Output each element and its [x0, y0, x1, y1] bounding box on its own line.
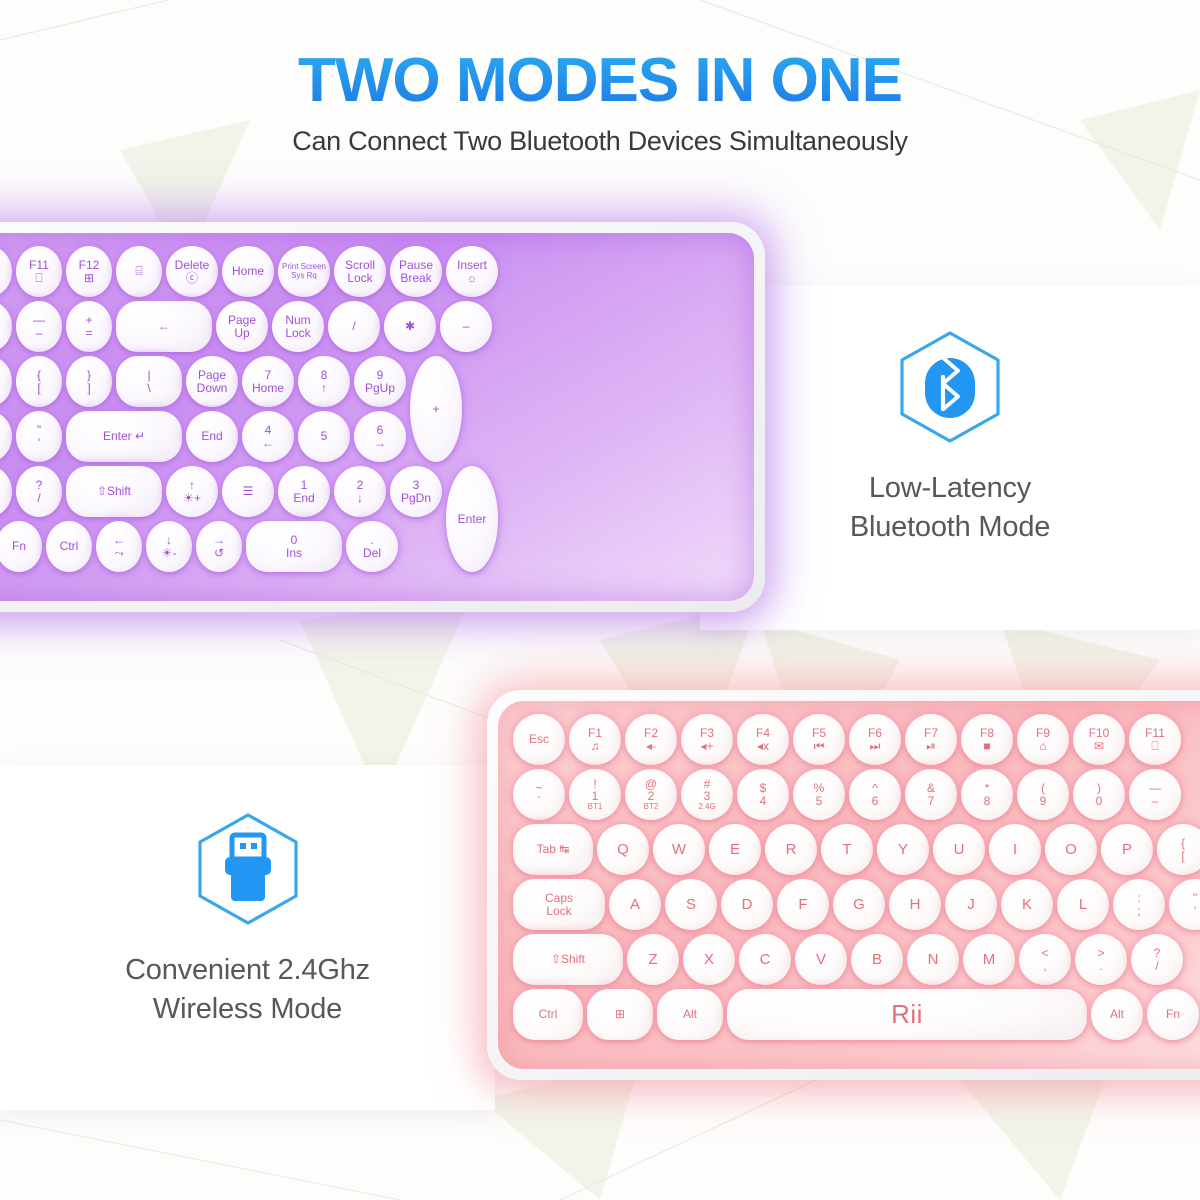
key-r[interactable]: R	[765, 824, 817, 875]
key-delete[interactable]: Deleteⓒ	[166, 246, 218, 297]
key--[interactable]: ^6	[849, 769, 901, 820]
keycap: )0	[1073, 769, 1125, 820]
key-8[interactable]: 8↑	[298, 356, 350, 407]
keycap: C	[739, 934, 791, 985]
key--[interactable]: (9	[1017, 769, 1069, 820]
key-legend-primary: ☰	[243, 485, 254, 497]
key-legend-secondary: 0	[1096, 795, 1103, 807]
key-legend-primary: Ctrl	[539, 1008, 558, 1020]
key--[interactable]: $4	[737, 769, 789, 820]
key-legend-primary: 4	[265, 424, 272, 436]
key-legend-primary: 5	[321, 430, 328, 442]
key-f2[interactable]: F2◂-	[625, 714, 677, 765]
key--[interactable]: &7	[905, 769, 957, 820]
key-legend-secondary: ⊞	[84, 272, 94, 284]
key-legend-primary: 0	[291, 534, 298, 546]
key-legend-secondary: \	[147, 382, 150, 394]
key-legend-primary: 7	[265, 369, 272, 381]
keycap: 4←	[242, 411, 294, 462]
key-legend-primary: H	[910, 897, 921, 912]
key-f8[interactable]: F8■	[961, 714, 1013, 765]
key-home[interactable]: Home	[222, 246, 274, 297]
keycap: ?/	[1131, 934, 1183, 985]
key-ctrl[interactable]: Ctrl	[46, 521, 92, 572]
key-legend-secondary: .	[1099, 960, 1102, 972]
key-legend-primary: F12	[79, 259, 100, 271]
key-legend-primary: F11	[29, 259, 49, 271]
key-legend-primary: J	[967, 897, 975, 912]
key-legend-primary: 1	[301, 479, 308, 491]
keycap: PageUp	[216, 301, 268, 352]
key-legend-primary: ←	[158, 320, 170, 332]
key-legend-mode: BT2	[644, 803, 659, 811]
keycap: F9⌂	[1017, 714, 1069, 765]
key-legend-primary: T	[842, 842, 851, 857]
key-legend-secondary: PgDn	[401, 492, 431, 504]
key--[interactable]: @2BT2	[625, 769, 677, 820]
key-legend-primary: D	[742, 897, 753, 912]
key-c[interactable]: C	[739, 934, 791, 985]
key-legend-primary: B	[872, 952, 882, 967]
key-f11[interactable]: F11⎕	[1129, 714, 1181, 765]
key--[interactable]: ←⤳	[96, 521, 142, 572]
key-legend-secondary: ⏭	[870, 740, 881, 752]
key--[interactable]: }]	[66, 356, 112, 407]
keycap: ScrollLock	[334, 246, 386, 297]
key-legend-secondary: ■	[983, 740, 990, 752]
key-legend-secondary: ;	[1137, 905, 1140, 917]
key-a[interactable]: A	[609, 879, 661, 930]
keycap: ✱	[384, 301, 436, 352]
key-legend-primary: S	[686, 897, 696, 912]
keycap: |\	[116, 356, 182, 407]
key-f9[interactable]: F9⌂	[1017, 714, 1069, 765]
keycap: &7	[905, 769, 957, 820]
keycap: Ctrl	[513, 989, 583, 1040]
keycap: "'	[1169, 879, 1200, 930]
key--[interactable]: ☰	[222, 466, 274, 517]
keycap: #32.4G	[681, 769, 733, 820]
key-y[interactable]: Y	[877, 824, 929, 875]
keycap: –	[440, 301, 492, 352]
key-legend-secondary: 7	[928, 795, 935, 807]
key--[interactable]: :;	[1113, 879, 1165, 930]
key--[interactable]: "'	[16, 411, 62, 462]
key-legend-primary: (	[1041, 782, 1045, 794]
key-legend-primary: N	[928, 952, 939, 967]
key-9[interactable]: 9PgUp	[354, 356, 406, 407]
key-esc[interactable]: Esc	[513, 714, 565, 765]
keycap: @2BT2	[625, 769, 677, 820]
keycap: O	[1045, 824, 1097, 875]
keycap: }]	[66, 356, 112, 407]
key--[interactable]: –	[440, 301, 492, 352]
key-legend-secondary: Down	[197, 382, 228, 394]
key-legend-secondary: ◂-	[646, 740, 656, 752]
key-legend-secondary: Lock	[285, 327, 310, 339]
key-legend-primary: —	[1149, 782, 1161, 794]
key-legend-secondary: [	[37, 382, 40, 394]
key-legend-secondary: [	[1181, 850, 1184, 862]
key-legend-secondary: PgUp	[365, 382, 395, 394]
key-legend-primary: R	[786, 842, 797, 857]
key-legend-primary: ⌸	[135, 265, 142, 277]
brand-label: Rii	[891, 1001, 923, 1028]
key-legend-primary: Fn	[1166, 1008, 1180, 1020]
key-fn[interactable]: Fn	[0, 521, 42, 572]
key-legend-primary: Delete	[175, 259, 210, 271]
key-legend-secondary: ,	[1043, 960, 1046, 972]
keycap: (9	[1017, 769, 1069, 820]
key-legend-secondary: Ins	[286, 547, 302, 559]
key-legend-primary: F6	[868, 727, 882, 739]
key-legend-primary: Q	[617, 842, 629, 857]
key-legend-secondary: Lock	[546, 905, 571, 917]
key--[interactable]: ~`	[513, 769, 565, 820]
key--[interactable]: "'	[1169, 879, 1200, 930]
key-num[interactable]: NumLock	[272, 301, 324, 352]
keycap: Tab ↹	[513, 824, 593, 875]
key-legend-primary: |	[147, 369, 150, 381]
key-t[interactable]: T	[821, 824, 873, 875]
key-tab-[interactable]: Tab ↹	[513, 824, 593, 875]
keycap: 6→	[354, 411, 406, 462]
key-legend-secondary: ]	[87, 382, 90, 394]
key-enter-[interactable]: Enter ↵	[66, 411, 182, 462]
key-legend-secondary: '	[1194, 905, 1196, 917]
header: TWO MODES IN ONE Can Connect Two Bluetoo…	[0, 0, 1200, 157]
key-legend-secondary: `	[537, 795, 541, 807]
key-alt[interactable]: Alt	[657, 989, 723, 1040]
keycap: F	[777, 879, 829, 930]
key-l[interactable]: L	[1057, 879, 1109, 930]
key--shift[interactable]: ⇧Shift	[66, 466, 162, 517]
key-legend-secondary: ☀-	[162, 547, 177, 559]
keycap: K	[1001, 879, 1053, 930]
key-legend-primary: Alt	[683, 1008, 697, 1020]
keycap: →↺	[196, 521, 242, 572]
keycap: Ctrl	[46, 521, 92, 572]
key--[interactable]: *8	[961, 769, 1013, 820]
key-2[interactable]: 2↓	[334, 466, 386, 517]
key-f3[interactable]: F3◂+	[681, 714, 733, 765]
key--[interactable]: <,	[1019, 934, 1071, 985]
key-legend-primary: /	[352, 320, 355, 332]
key-legend-primary: "	[1193, 892, 1197, 904]
key-f5[interactable]: F5⏮	[793, 714, 845, 765]
key-fn[interactable]: Fn	[1147, 989, 1199, 1040]
key--[interactable]: .Del	[346, 521, 398, 572]
keycap: V	[795, 934, 847, 985]
key--[interactable]: ↑☀+	[166, 466, 218, 517]
key-legend-primary: 6	[377, 424, 384, 436]
key-p[interactable]: P	[1101, 824, 1153, 875]
key-legend-secondary: ◂x	[757, 740, 769, 752]
key-legend-primary: +	[432, 403, 439, 415]
keycap: Print ScreenSys Rq	[278, 246, 330, 297]
key-legend-primary: {	[37, 369, 41, 381]
key-legend-secondary: Home	[252, 382, 284, 394]
key-legend-primary: Enter ↵	[103, 430, 145, 442]
key-page[interactable]: PageUp	[216, 301, 268, 352]
keycap: Esc	[513, 714, 565, 765]
key--[interactable]: ?/	[16, 466, 62, 517]
key-enter[interactable]: Enter	[446, 466, 498, 572]
keycap: 5	[298, 411, 350, 462]
key-legend-primary: V	[816, 952, 826, 967]
keycap: 8↑	[298, 356, 350, 407]
key-q[interactable]: Q	[597, 824, 649, 875]
keycap: U	[933, 824, 985, 875]
key-legend-secondary: ◂+	[700, 740, 713, 752]
page-subtitle: Can Connect Two Bluetooth Devices Simult…	[0, 112, 1200, 157]
keycap: 3PgDn	[390, 466, 442, 517]
key-j[interactable]: J	[945, 879, 997, 930]
keycap: W	[653, 824, 705, 875]
key--[interactable]: ←	[116, 301, 212, 352]
key--[interactable]: ✱	[384, 301, 436, 352]
keycap: F8■	[961, 714, 1013, 765]
key-f12[interactable]: F12⊞	[66, 246, 112, 297]
keycap: H	[889, 879, 941, 930]
key-f11[interactable]: F11⎕	[16, 246, 62, 297]
key-legend-primary: E	[730, 842, 740, 857]
key-pause[interactable]: PauseBreak	[390, 246, 442, 297]
key--[interactable]: #32.4G	[681, 769, 733, 820]
key--[interactable]: {[	[1157, 824, 1200, 875]
key-legend-secondary: ↺	[214, 547, 224, 559]
key-i[interactable]: I	[989, 824, 1041, 875]
key--[interactable]: ⊞	[587, 989, 653, 1040]
key-g[interactable]: G	[833, 879, 885, 930]
key--[interactable]: —–	[16, 301, 62, 352]
keycap: ←	[116, 301, 212, 352]
keycap: ↑☀+	[166, 466, 218, 517]
key-legend-secondary: ⤳	[114, 547, 124, 559]
key-b[interactable]: B	[851, 934, 903, 985]
key--[interactable]: >.	[1075, 934, 1127, 985]
key-legend-secondary: 6	[872, 795, 879, 807]
key-f7[interactable]: F7⏯	[905, 714, 957, 765]
key-caps[interactable]: CapsLock	[513, 879, 605, 930]
keycap: +=	[66, 301, 112, 352]
key-legend-primary: <	[1041, 947, 1048, 959]
key-u[interactable]: U	[933, 824, 985, 875]
key-7[interactable]: 7Home	[242, 356, 294, 407]
key--[interactable]: :;	[0, 411, 12, 462]
key--[interactable]: ?/	[1131, 934, 1183, 985]
key--[interactable]: →↺	[196, 521, 242, 572]
keycap: X	[683, 934, 735, 985]
keycap: Y	[877, 824, 929, 875]
keycap: Enter	[446, 466, 498, 572]
key-m[interactable]: M	[963, 934, 1015, 985]
keycap: P	[0, 356, 12, 407]
keycap: D	[721, 879, 773, 930]
key-legend-primary: F3	[700, 727, 714, 739]
key--[interactable]: +	[410, 356, 462, 462]
pink-keyboard[interactable]: EscF1♫F2◂-F3◂+F4◂xF5⏮F6⏭F7⏯F8■F9⌂F10✉F11…	[487, 690, 1200, 1080]
key-legend-secondary: 9	[1040, 795, 1047, 807]
keycap: ⊞	[587, 989, 653, 1040]
keycap: /	[328, 301, 380, 352]
key-legend-secondary: 8	[984, 795, 991, 807]
keycap: B	[851, 934, 903, 985]
key--[interactable]: )0	[1073, 769, 1125, 820]
feature-panel-wireless: Convenient 2.4Ghz Wireless Mode	[0, 765, 495, 1110]
keycap: +	[410, 356, 462, 462]
key-x[interactable]: X	[683, 934, 735, 985]
key-legend-secondary: ✉	[1094, 740, 1104, 752]
key-6[interactable]: 6→	[354, 411, 406, 462]
key-legend-primary: >	[1097, 947, 1104, 959]
key-legend-primary: ?	[36, 479, 43, 491]
usb-dongle-hexagon-icon	[0, 807, 495, 935]
key--[interactable]: !1BT1	[569, 769, 621, 820]
key-e[interactable]: E	[709, 824, 761, 875]
key-s[interactable]: S	[665, 879, 717, 930]
key-legend-primary: F9	[1036, 727, 1050, 739]
keycap: P	[1101, 824, 1153, 875]
key--[interactable]: %5	[793, 769, 845, 820]
key-o[interactable]: O	[1045, 824, 1097, 875]
key-f6[interactable]: F6⏭	[849, 714, 901, 765]
keycap: CapsLock	[513, 879, 605, 930]
keycap: I	[989, 824, 1041, 875]
keycap: )0	[0, 301, 12, 352]
key-v[interactable]: V	[795, 934, 847, 985]
key-f10[interactable]: F10✉	[0, 246, 12, 297]
key-legend-primary: ⇧Shift	[97, 485, 131, 497]
keycap: {[	[1157, 824, 1200, 875]
keycap: Deleteⓒ	[166, 246, 218, 297]
keycap: Q	[597, 824, 649, 875]
key-legend-primary: Ctrl	[60, 540, 79, 552]
feature-label: Convenient 2.4Ghz Wireless Mode	[0, 951, 495, 1029]
key-legend-primary: Scroll	[345, 259, 375, 271]
key-f4[interactable]: F4◂x	[737, 714, 789, 765]
key-5[interactable]: 5	[298, 411, 350, 462]
key-legend-secondary: /	[37, 492, 40, 504]
key-1[interactable]: 1End	[278, 466, 330, 517]
key-legend-secondary: ☀+	[183, 492, 201, 504]
keycap: A	[609, 879, 661, 930]
keycap: >.	[0, 466, 12, 517]
key-end[interactable]: End	[186, 411, 238, 462]
keycap: 2↓	[334, 466, 386, 517]
key-legend-secondary: ⓒ	[186, 272, 198, 284]
keycap: S	[665, 879, 717, 930]
key-alt[interactable]: Alt	[1091, 989, 1143, 1040]
key-legend-secondary: Lock	[347, 272, 372, 284]
purple-keyboard[interactable]: F7▶‖F8■F9⌂F10✉F11⎕F12⊞⌸DeleteⓒHomePrint …	[0, 222, 765, 612]
key-legend-primary: Alt	[1110, 1008, 1124, 1020]
key-k[interactable]: K	[1001, 879, 1053, 930]
key-legend-secondary: Up	[234, 327, 249, 339]
keycap: M	[963, 934, 1015, 985]
key-scroll[interactable]: ScrollLock	[334, 246, 386, 297]
bluetooth-hexagon-icon	[700, 325, 1200, 453]
key-w[interactable]: W	[653, 824, 705, 875]
keycap: Z	[627, 934, 679, 985]
key--[interactable]: /	[328, 301, 380, 352]
key-print-screen[interactable]: Print ScreenSys Rq	[278, 246, 330, 297]
key-legend-secondary: End	[293, 492, 314, 504]
key--[interactable]: +=	[66, 301, 112, 352]
key-legend-primary: ~	[535, 782, 542, 794]
keycap: F1♫	[569, 714, 621, 765]
key-0[interactable]: 0Ins	[246, 521, 342, 572]
key-legend-secondary: 4	[760, 795, 767, 807]
key-legend-secondary: ⏮	[814, 740, 825, 752]
feature-line-1: Low-Latency	[700, 469, 1200, 508]
key-n[interactable]: N	[907, 934, 959, 985]
key-ctrl[interactable]: Ctrl	[513, 989, 583, 1040]
keycap: 7Home	[242, 356, 294, 407]
key-f[interactable]: F	[777, 879, 829, 930]
keycap: !1BT1	[569, 769, 621, 820]
key-legend-primary: ^	[872, 782, 878, 794]
keycap: F2◂-	[625, 714, 677, 765]
key-f1[interactable]: F1♫	[569, 714, 621, 765]
key-legend-primary: Z	[648, 952, 657, 967]
keycap: F3◂+	[681, 714, 733, 765]
keycap: ^6	[849, 769, 901, 820]
key-legend-primary: P	[1122, 842, 1132, 857]
key-f10[interactable]: F10✉	[1073, 714, 1125, 765]
key-legend-primary: *	[985, 782, 990, 794]
key-3[interactable]: 3PgDn	[390, 466, 442, 517]
key-rii[interactable]: Rii	[727, 989, 1087, 1040]
key-legend-primary: 3	[413, 479, 420, 491]
key--[interactable]: —–	[1129, 769, 1181, 820]
key-legend-primary: ⇧Shift	[551, 953, 585, 965]
key-legend-primary: Y	[898, 842, 908, 857]
keycap: Alt	[657, 989, 723, 1040]
key-4[interactable]: 4←	[242, 411, 294, 462]
key-h[interactable]: H	[889, 879, 941, 930]
keycap: ←⤳	[96, 521, 142, 572]
key-z[interactable]: Z	[627, 934, 679, 985]
key-legend-secondary: ♫	[591, 740, 600, 752]
key-legend-secondary: Break	[400, 272, 431, 284]
key-legend-primary: F8	[980, 727, 994, 739]
key--shift[interactable]: ⇧Shift	[513, 934, 623, 985]
key-d[interactable]: D	[721, 879, 773, 930]
keycap: L	[1057, 879, 1109, 930]
key-page[interactable]: PageDown	[186, 356, 238, 407]
key-legend-primary: F10	[1089, 727, 1110, 739]
key-legend-primary: $	[760, 782, 767, 794]
keycap: PageDown	[186, 356, 238, 407]
key-legend-secondary: '	[38, 437, 40, 449]
key-legend-primary: Esc	[529, 733, 549, 745]
keycap: F11⎕	[1129, 714, 1181, 765]
key-legend-primary: A	[630, 897, 640, 912]
key--[interactable]: )0	[0, 301, 12, 352]
key-p[interactable]: P	[0, 356, 12, 407]
keycap: F4◂x	[737, 714, 789, 765]
key-legend-primary: C	[760, 952, 771, 967]
key--[interactable]: ↓☀-	[146, 521, 192, 572]
key-legend-primary: .	[370, 534, 373, 546]
key--[interactable]: ⌸	[116, 246, 162, 297]
key-legend-primary: }	[87, 369, 91, 381]
key--[interactable]: {[	[16, 356, 62, 407]
key--[interactable]: >.	[0, 466, 12, 517]
key--[interactable]: |\	[116, 356, 182, 407]
key-insert[interactable]: Insert☼	[446, 246, 498, 297]
